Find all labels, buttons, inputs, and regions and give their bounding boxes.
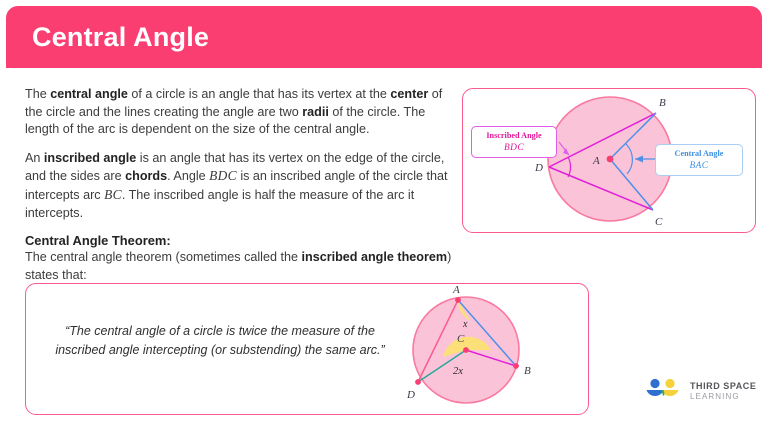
center-point-dot [607,156,614,163]
worksheet-page: Central Angle The central angle of a cir… [0,0,768,435]
point-dot-b [513,363,519,369]
logo-head-blue [650,379,659,388]
paragraph-central-angle: The central angle of a circle is an angl… [25,86,457,139]
page-title: Central Angle [32,22,209,53]
logo-body-blue [647,390,664,396]
logo-line-2: LEARNING [690,393,756,401]
point-dot-c [463,347,469,353]
angle-label-2x: 2x [453,366,463,377]
theorem-label-point-d: D [406,389,415,401]
theorem-label-point-b: B [524,365,531,377]
page-header: Central Angle [6,6,762,68]
callout-central-angle: Central Angle BAC [655,144,743,176]
callout-inscribed-math: BDC [477,143,551,155]
math-angle-bdc: BDC [209,168,237,183]
angle-label-x: x [462,319,468,330]
central-angle-theorem-diagram: A B C D x 2x [26,284,587,413]
callout-inscribed-angle: Inscribed Angle BDC [471,126,557,158]
label-point-d: D [534,162,543,174]
theorem-label-point-c: C [457,333,465,345]
theorem-panel: “The central angle of a circle is twice … [25,283,589,415]
point-dot-d [415,379,421,385]
logo-wordmark: THIRD SPACE LEARNING [690,382,756,401]
paragraph-inscribed-angle: An inscribed angle is an angle that has … [25,150,457,222]
point-dot-a [455,297,461,303]
callout-inscribed-title: Inscribed Angle [477,130,551,142]
theorem-subtext: The central angle theorem (sometimes cal… [25,249,457,284]
label-point-c: C [655,216,663,228]
label-point-b: B [659,97,666,109]
content-column: The central angle of a circle is an angl… [25,86,457,284]
callout-central-title: Central Angle [661,148,737,160]
label-point-a: A [592,155,600,167]
logo-line-1: THIRD SPACE [690,382,756,391]
diagram-panel-top: B C D A Inscribed Angle BDC Central Angl… [462,88,756,233]
theorem-label-point-a: A [452,284,460,296]
theorem-heading: Central Angle Theorem: [25,233,457,248]
math-arc-bc: BC [104,187,122,202]
logo-head-yellow [665,379,674,388]
callout-central-math: BAC [661,161,737,173]
brand-logo: THIRD SPACE LEARNING [645,378,756,404]
third-space-learning-mark-icon [645,378,683,404]
